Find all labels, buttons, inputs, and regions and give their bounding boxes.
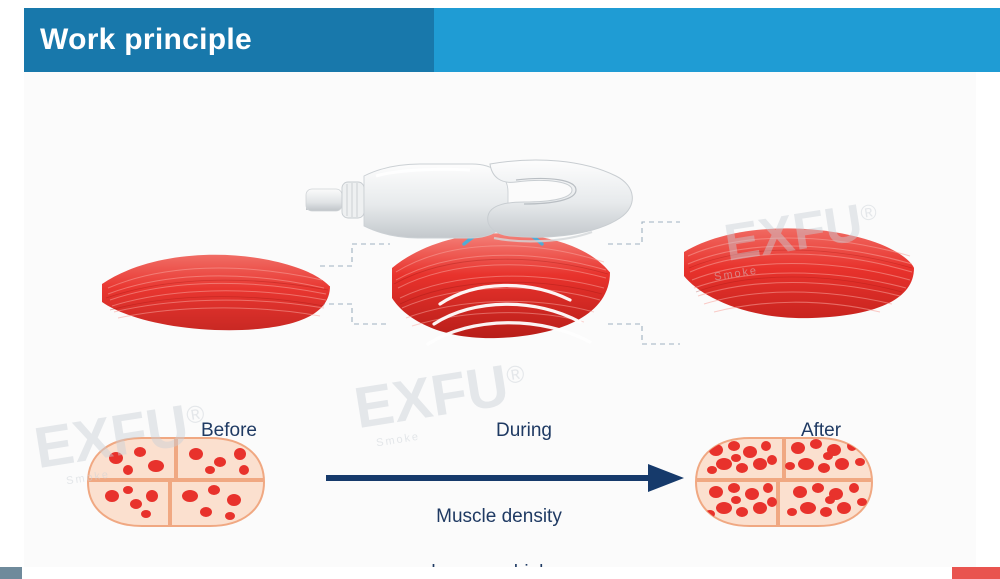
bottom-strip [0,567,1000,579]
bottom-accent-right [952,567,1000,579]
slide-root: Work principle [0,0,1000,579]
muscle-after [684,228,914,318]
work-principle-illustration [24,72,976,567]
bottom-accent-left [0,567,22,579]
diagram-canvas: EXFU® EXFU® EXFU® Smoke Smoke Smoke Befo… [24,72,976,567]
page-title: Work principle [40,16,440,64]
arrow-right-icon [326,464,684,492]
stage-label-after: After [746,420,896,442]
stage-label-before: Before [154,420,304,442]
muscle-before [102,255,330,330]
tissue-block-after [692,432,878,532]
callout-line-1: Muscle density [364,506,634,528]
handpiece-device [306,160,632,241]
tissue-block-before [84,432,270,532]
canvas-edge-left [0,72,24,567]
canvas-edge-right [976,72,1000,567]
muscle-during [392,233,610,344]
stage-label-during: During [449,420,599,442]
